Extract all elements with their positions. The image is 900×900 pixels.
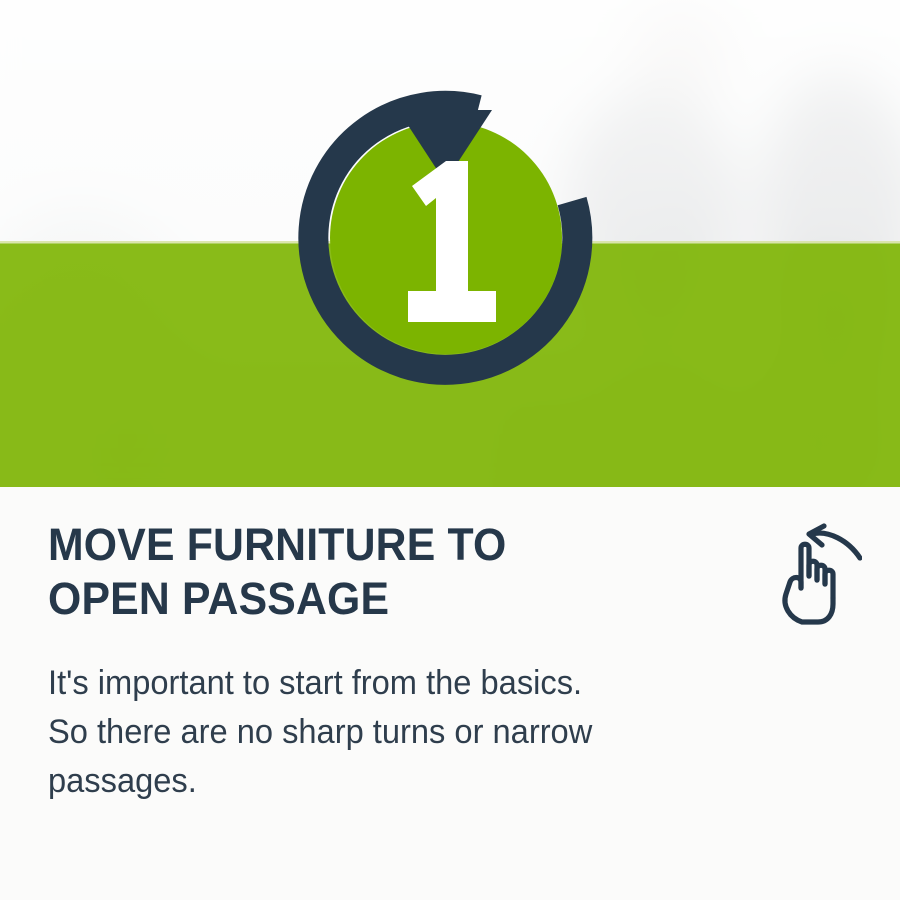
content-panel: MOVE FURNITURE TO OPEN PASSAGE It's impo… — [0, 487, 900, 900]
instruction-card: MOVE FURNITURE TO OPEN PASSAGE It's impo… — [0, 0, 900, 900]
little-finger — [825, 570, 833, 598]
page-title: MOVE FURNITURE TO OPEN PASSAGE — [48, 518, 713, 626]
swipe-left-hand-icon — [778, 522, 862, 626]
step-number-badge — [296, 86, 596, 386]
body-text: It's important to start from the basics.… — [48, 659, 739, 806]
hero-image-area — [0, 0, 900, 487]
